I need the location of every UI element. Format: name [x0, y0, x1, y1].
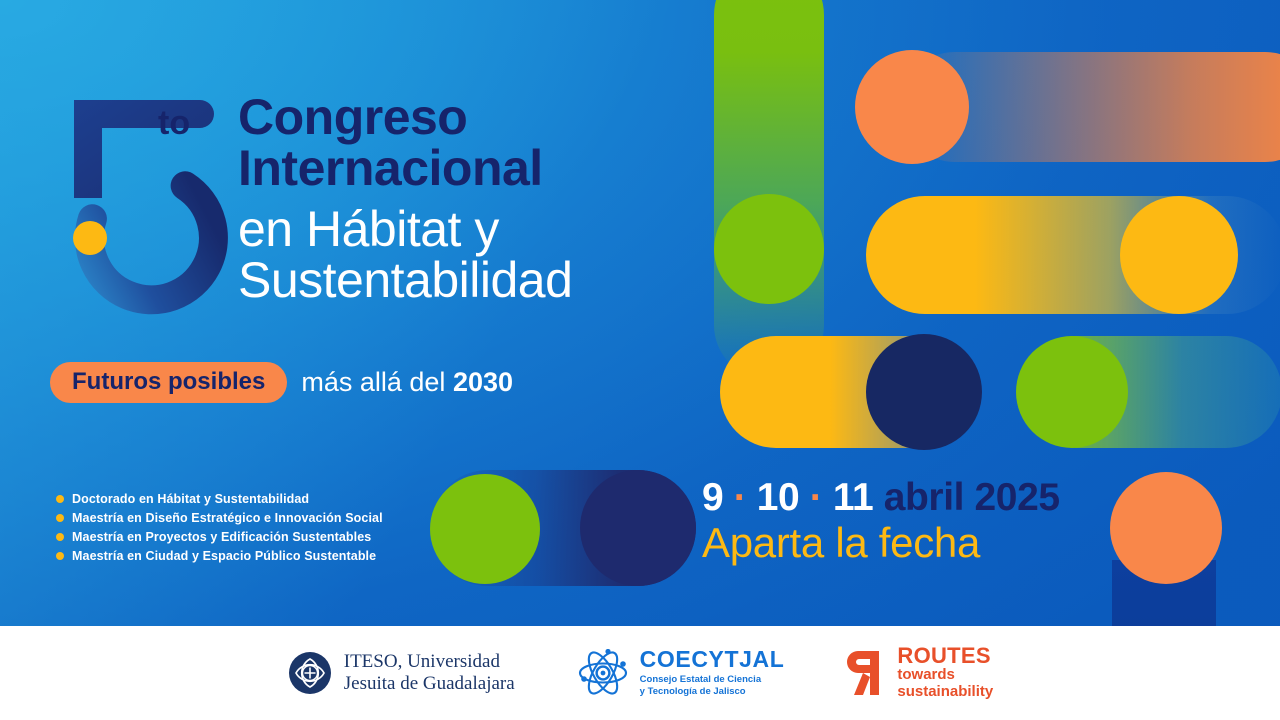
date-month-year: abril 2025: [884, 476, 1060, 519]
atom-icon: [577, 649, 629, 697]
coecytjal-logo[interactable]: COECYTJAL Consejo Estatal de Ciencia y T…: [577, 648, 785, 698]
edition-suffix: to: [158, 106, 190, 140]
list-item: Maestría en Ciudad y Espacio Público Sus…: [56, 549, 383, 563]
bullet-dot-icon: [56, 552, 64, 560]
program-label: Maestría en Diseño Estratégico e Innovac…: [72, 511, 383, 525]
list-item: Maestría en Proyectos y Edificación Sust…: [56, 530, 383, 544]
date-day-2: 10: [757, 476, 800, 519]
poster-canvas: to Congreso Internacional en Hábitat y S…: [0, 0, 1280, 720]
list-item: Maestría en Diseño Estratégico e Innovac…: [56, 511, 383, 525]
list-item: Doctorado en Hábitat y Sustentabilidad: [56, 492, 383, 506]
tagline: Futuros posibles más allá del 2030: [50, 362, 513, 403]
program-label: Doctorado en Hábitat y Sustentabilidad: [72, 492, 309, 506]
poster-content: to Congreso Internacional en Hábitat y S…: [0, 0, 1280, 720]
iteso-logo[interactable]: ITESO, Universidad Jesuita de Guadalajar…: [287, 650, 515, 696]
coecytjal-wordmark: COECYTJAL Consejo Estatal de Ciencia y T…: [640, 648, 785, 698]
bullet-dot-icon: [56, 495, 64, 503]
coecytjal-sub-2: y Tecnología de Jalisco: [640, 686, 785, 698]
save-the-date-text: Aparta la fecha: [702, 520, 1060, 566]
tagline-prefix: más allá del: [301, 367, 445, 397]
date-day-3: 11: [833, 476, 873, 519]
bullet-dot-icon: [56, 533, 64, 541]
routes-mark-icon: [846, 647, 886, 699]
coecytjal-name: COECYTJAL: [640, 648, 785, 671]
iteso-emblem-icon: [287, 650, 333, 696]
program-list: Doctorado en Hábitat y Sustentabilidad M…: [56, 492, 383, 568]
title-line-3: en Hábitat y: [238, 204, 708, 255]
routes-line-2: towards: [897, 667, 993, 684]
routes-wordmark: ROUTES towards sustainability: [897, 645, 993, 701]
tagline-year: 2030: [453, 367, 513, 397]
title-line-4: Sustentabilidad: [238, 255, 708, 306]
routes-line-1: ROUTES: [897, 645, 993, 667]
bullet-dot-icon: [56, 514, 64, 522]
event-date: 9 · 10 · 11 abril 2025: [702, 478, 1060, 519]
tagline-text: más allá del 2030: [301, 369, 513, 396]
edition-numeral: to: [48, 78, 268, 318]
iteso-wordmark: ITESO, Universidad Jesuita de Guadalajar…: [344, 651, 515, 695]
program-label: Maestría en Proyectos y Edificación Sust…: [72, 530, 371, 544]
page-title: Congreso Internacional en Hábitat y Sust…: [238, 92, 708, 306]
routes-line-3: sustainability: [897, 684, 993, 701]
title-line-1: Congreso: [238, 92, 708, 143]
sponsor-logo-row: ITESO, Universidad Jesuita de Guadalajar…: [0, 626, 1280, 720]
sponsor-footer: ITESO, Universidad Jesuita de Guadalajar…: [0, 626, 1280, 720]
routes-logo[interactable]: ROUTES towards sustainability: [846, 645, 993, 701]
event-date-block: 9 · 10 · 11 abril 2025 Aparta la fecha: [702, 478, 1060, 566]
coecytjal-sub-1: Consejo Estatal de Ciencia: [640, 674, 785, 686]
date-separator-1: ·: [734, 476, 747, 519]
iteso-line-1: ITESO, Universidad: [344, 651, 515, 673]
title-line-2: Internacional: [238, 143, 708, 194]
program-label: Maestría en Ciudad y Espacio Público Sus…: [72, 549, 376, 563]
iteso-line-2: Jesuita de Guadalajara: [344, 673, 515, 695]
date-separator-2: ·: [810, 476, 823, 519]
futuros-posibles-badge: Futuros posibles: [50, 362, 287, 403]
date-day-1: 9: [702, 476, 723, 519]
